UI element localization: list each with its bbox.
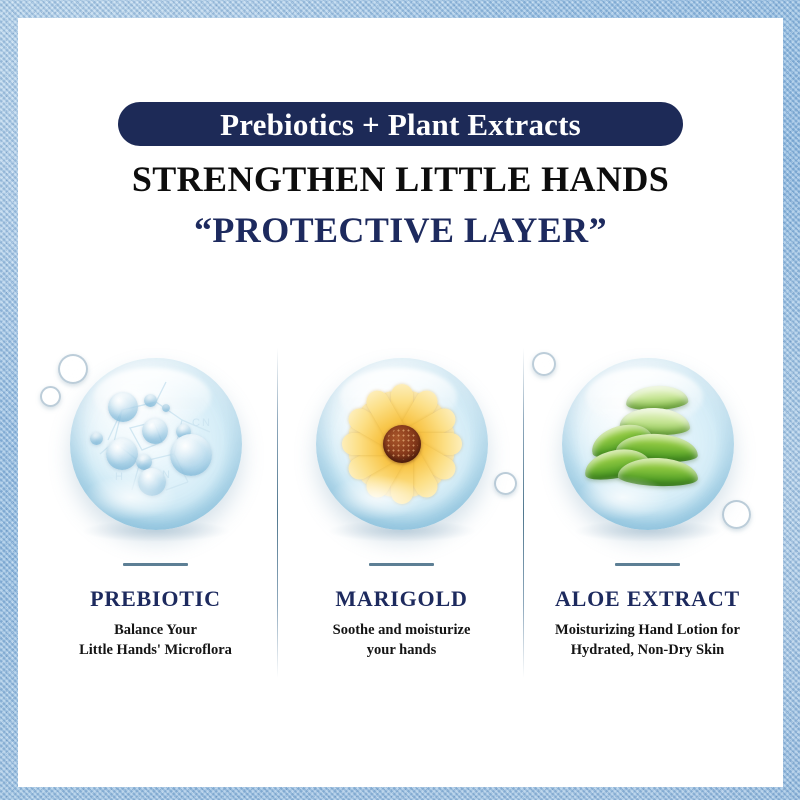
caption-rule xyxy=(615,563,680,566)
caption-rule xyxy=(123,563,188,566)
svg-text:C: C xyxy=(192,417,200,429)
page-subtitle: “PROTECTIVE LAYER” xyxy=(18,209,783,251)
decorative-bubble-icon xyxy=(722,500,751,529)
feature-title-prebiotic: PREBIOTIC xyxy=(34,586,277,612)
decorative-bubble-icon xyxy=(40,386,61,407)
aloe-slices xyxy=(580,384,716,504)
decorative-bubble-icon xyxy=(494,472,517,495)
page-title: STRENGTHEN LITTLE HANDS xyxy=(18,158,783,200)
flower-center xyxy=(383,425,421,463)
inner-bubble xyxy=(170,434,212,476)
feature-description-marigold: Soothe and moisturize your hands xyxy=(280,620,523,660)
inner-bubble xyxy=(142,418,168,444)
feature-title-marigold: MARIGOLD xyxy=(280,586,523,612)
feature-card-marigold: MARIGOLD Soothe and moisturize your hand… xyxy=(280,348,523,698)
feature-description-line: your hands xyxy=(280,640,523,660)
feature-description-line: Balance Your xyxy=(34,620,277,640)
column-divider-1 xyxy=(277,348,278,678)
feature-description-line: Soothe and moisturize xyxy=(280,620,523,640)
column-divider-2 xyxy=(523,348,524,678)
aloe-slices-bubble-icon xyxy=(562,358,734,530)
poster-background: Prebiotics + Plant Extracts STRENGTHEN L… xyxy=(0,0,800,800)
inner-bubble xyxy=(144,394,157,407)
inner-bubble xyxy=(108,392,138,422)
feature-description-line: Hydrated, Non-Dry Skin xyxy=(526,640,769,660)
decorative-bubble-icon xyxy=(532,352,556,376)
inner-bubble xyxy=(162,404,170,412)
prebiotics-plant-extracts-badge: Prebiotics + Plant Extracts xyxy=(118,102,683,146)
prebiotic-illustration: C N H N xyxy=(34,348,277,563)
marigold-flower xyxy=(334,376,470,512)
inner-bubble xyxy=(138,468,166,496)
caption-rule xyxy=(369,563,434,566)
feature-description-line: Little Hands' Microflora xyxy=(34,640,277,660)
inner-bubble xyxy=(90,432,103,445)
marigold-flower-bubble-icon xyxy=(316,358,488,530)
molecule-diagram: C N H N xyxy=(70,358,242,530)
marigold-illustration xyxy=(280,348,523,563)
feature-description-aloe: Moisturizing Hand Lotion for Hydrated, N… xyxy=(526,620,769,660)
svg-text:N: N xyxy=(202,417,210,429)
prebiotic-molecule-bubble-icon: C N H N xyxy=(70,358,242,530)
product-info-card: Prebiotics + Plant Extracts STRENGTHEN L… xyxy=(18,18,783,787)
aloe-illustration xyxy=(526,348,769,563)
inner-bubble xyxy=(106,438,138,470)
feature-description-prebiotic: Balance Your Little Hands' Microflora xyxy=(34,620,277,660)
feature-title-aloe: ALOE EXTRACT xyxy=(526,586,769,612)
feature-card-aloe: ALOE EXTRACT Moisturizing Hand Lotion fo… xyxy=(526,348,769,698)
feature-card-prebiotic: C N H N xyxy=(34,348,277,698)
feature-description-line: Moisturizing Hand Lotion for xyxy=(526,620,769,640)
badge-label: Prebiotics + Plant Extracts xyxy=(220,109,581,140)
svg-text:H: H xyxy=(115,471,123,483)
